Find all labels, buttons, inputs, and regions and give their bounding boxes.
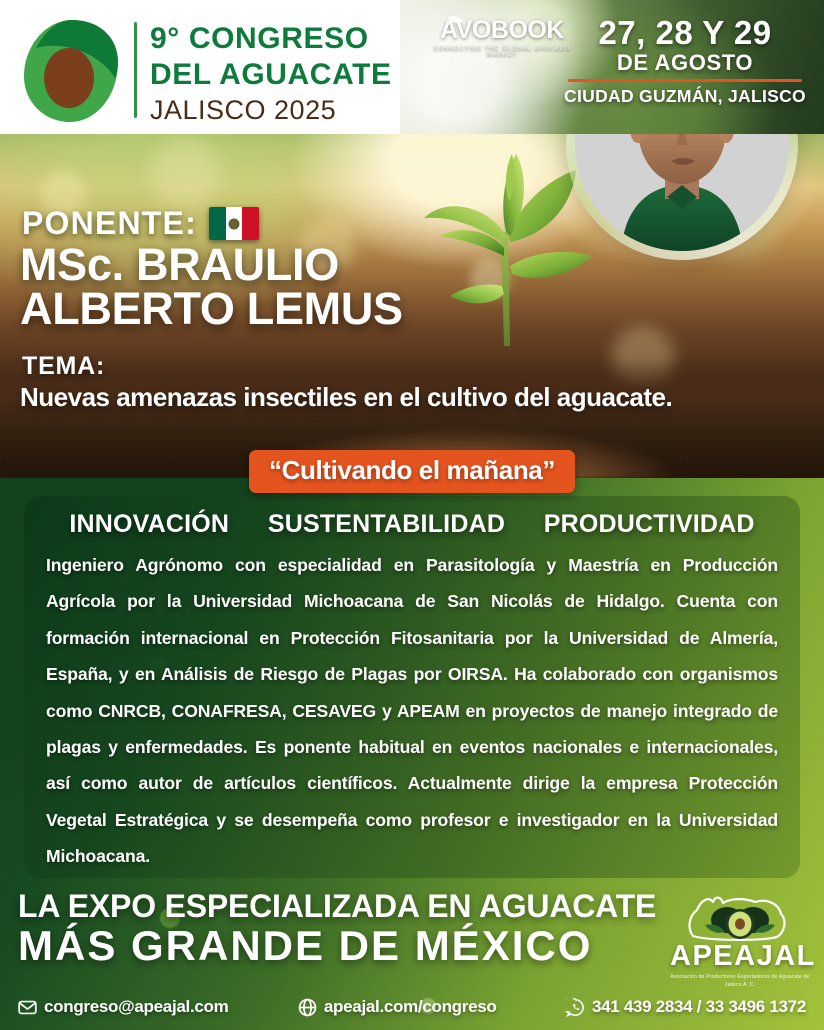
dates-line2: DE AGOSTO — [556, 51, 814, 74]
pillars-row: INNOVACIÓN SUSTENTABILIDAD PRODUCTIVIDAD — [24, 496, 800, 543]
event-poster: PONENTE: MSc. BRAULIO ALBERTO LEMUS TEMA… — [0, 0, 824, 1030]
tagline-text: “Cultivando el mañana” — [269, 455, 555, 485]
event-dates: 27, 28 Y 29 DE AGOSTO CIUDAD GUZMÁN, JAL… — [556, 16, 814, 107]
phone-text: 341 439 2834 / 33 3496 1372 — [592, 997, 806, 1017]
dates-line1: 27, 28 Y 29 — [556, 16, 814, 49]
globe-icon — [298, 998, 317, 1017]
congress-line1: 9° CONGRESO — [150, 24, 392, 54]
contact-website[interactable]: apeajal.com/congreso — [298, 997, 497, 1017]
tagline-badge: “Cultivando el mañana” — [249, 450, 575, 493]
tema-label: TEMA: — [22, 352, 105, 381]
whatsapp-icon — [566, 998, 585, 1017]
apeajal-wordmark: APEAJAL — [670, 942, 810, 971]
apeajal-subtitle: Asociación de Productores Exportadores d… — [670, 974, 810, 989]
expo-headline: LA EXPO ESPECIALIZADA EN AGUACATE MÁS GR… — [18, 890, 656, 968]
apeajal-logo: APEAJAL Asociación de Productores Export… — [670, 892, 810, 989]
speaker-name: MSc. BRAULIO ALBERTO LEMUS — [20, 243, 403, 331]
pillar-productividad: PRODUCTIVIDAD — [544, 510, 755, 539]
speaker-name-line1: MSc. BRAULIO — [20, 243, 403, 287]
website-text: apeajal.com/congreso — [324, 997, 497, 1017]
speaker-name-line2: ALBERTO LEMUS — [20, 287, 403, 331]
header: 9° CONGRESO DEL AGUACATE JALISCO 2025 AV… — [0, 0, 824, 134]
avocado-logo-icon — [14, 16, 130, 126]
dates-divider — [568, 79, 802, 82]
logo-divider — [134, 22, 137, 118]
congress-line3: JALISCO 2025 — [150, 97, 392, 124]
mexico-flag-icon — [209, 207, 259, 240]
expo-headline-line1: LA EXPO ESPECIALIZADA EN AGUACATE — [18, 890, 656, 922]
speaker-bio: Ingeniero Agrónomo con especialidad en P… — [24, 543, 800, 875]
avobook-wordmark: AVOBOOK — [432, 18, 572, 43]
email-text: congreso@apeajal.com — [44, 997, 228, 1017]
contact-email[interactable]: congreso@apeajal.com — [18, 997, 228, 1017]
ponente-label: PONENTE: — [22, 205, 197, 242]
avobook-tagline: CONNECTING THE GLOBAL AVOCADO MARKET — [432, 46, 572, 58]
dates-location: CIUDAD GUZMÁN, JALISCO — [556, 86, 814, 107]
contact-bar: congreso@apeajal.com apeajal.com/congres… — [0, 990, 824, 1024]
bio-card: INNOVACIÓN SUSTENTABILIDAD PRODUCTIVIDAD… — [24, 496, 800, 878]
envelope-icon — [18, 998, 37, 1017]
ponente-row: PONENTE: — [22, 205, 259, 242]
jalisco-map-avocado-icon — [670, 892, 810, 942]
pillar-innovacion: INNOVACIÓN — [69, 510, 229, 539]
contact-phone[interactable]: 341 439 2834 / 33 3496 1372 — [566, 997, 806, 1017]
avobook-logo: AVOBOOK CONNECTING THE GLOBAL AVOCADO MA… — [432, 18, 572, 58]
pillar-sustentabilidad: SUSTENTABILIDAD — [268, 510, 505, 539]
tema-text: Nuevas amenazas insectiles en el cultivo… — [20, 382, 760, 413]
congress-title: 9° CONGRESO DEL AGUACATE JALISCO 2025 — [150, 24, 392, 124]
expo-headline-line2: MÁS GRANDE DE MÉXICO — [18, 924, 656, 968]
congress-line2: DEL AGUACATE — [150, 60, 392, 90]
